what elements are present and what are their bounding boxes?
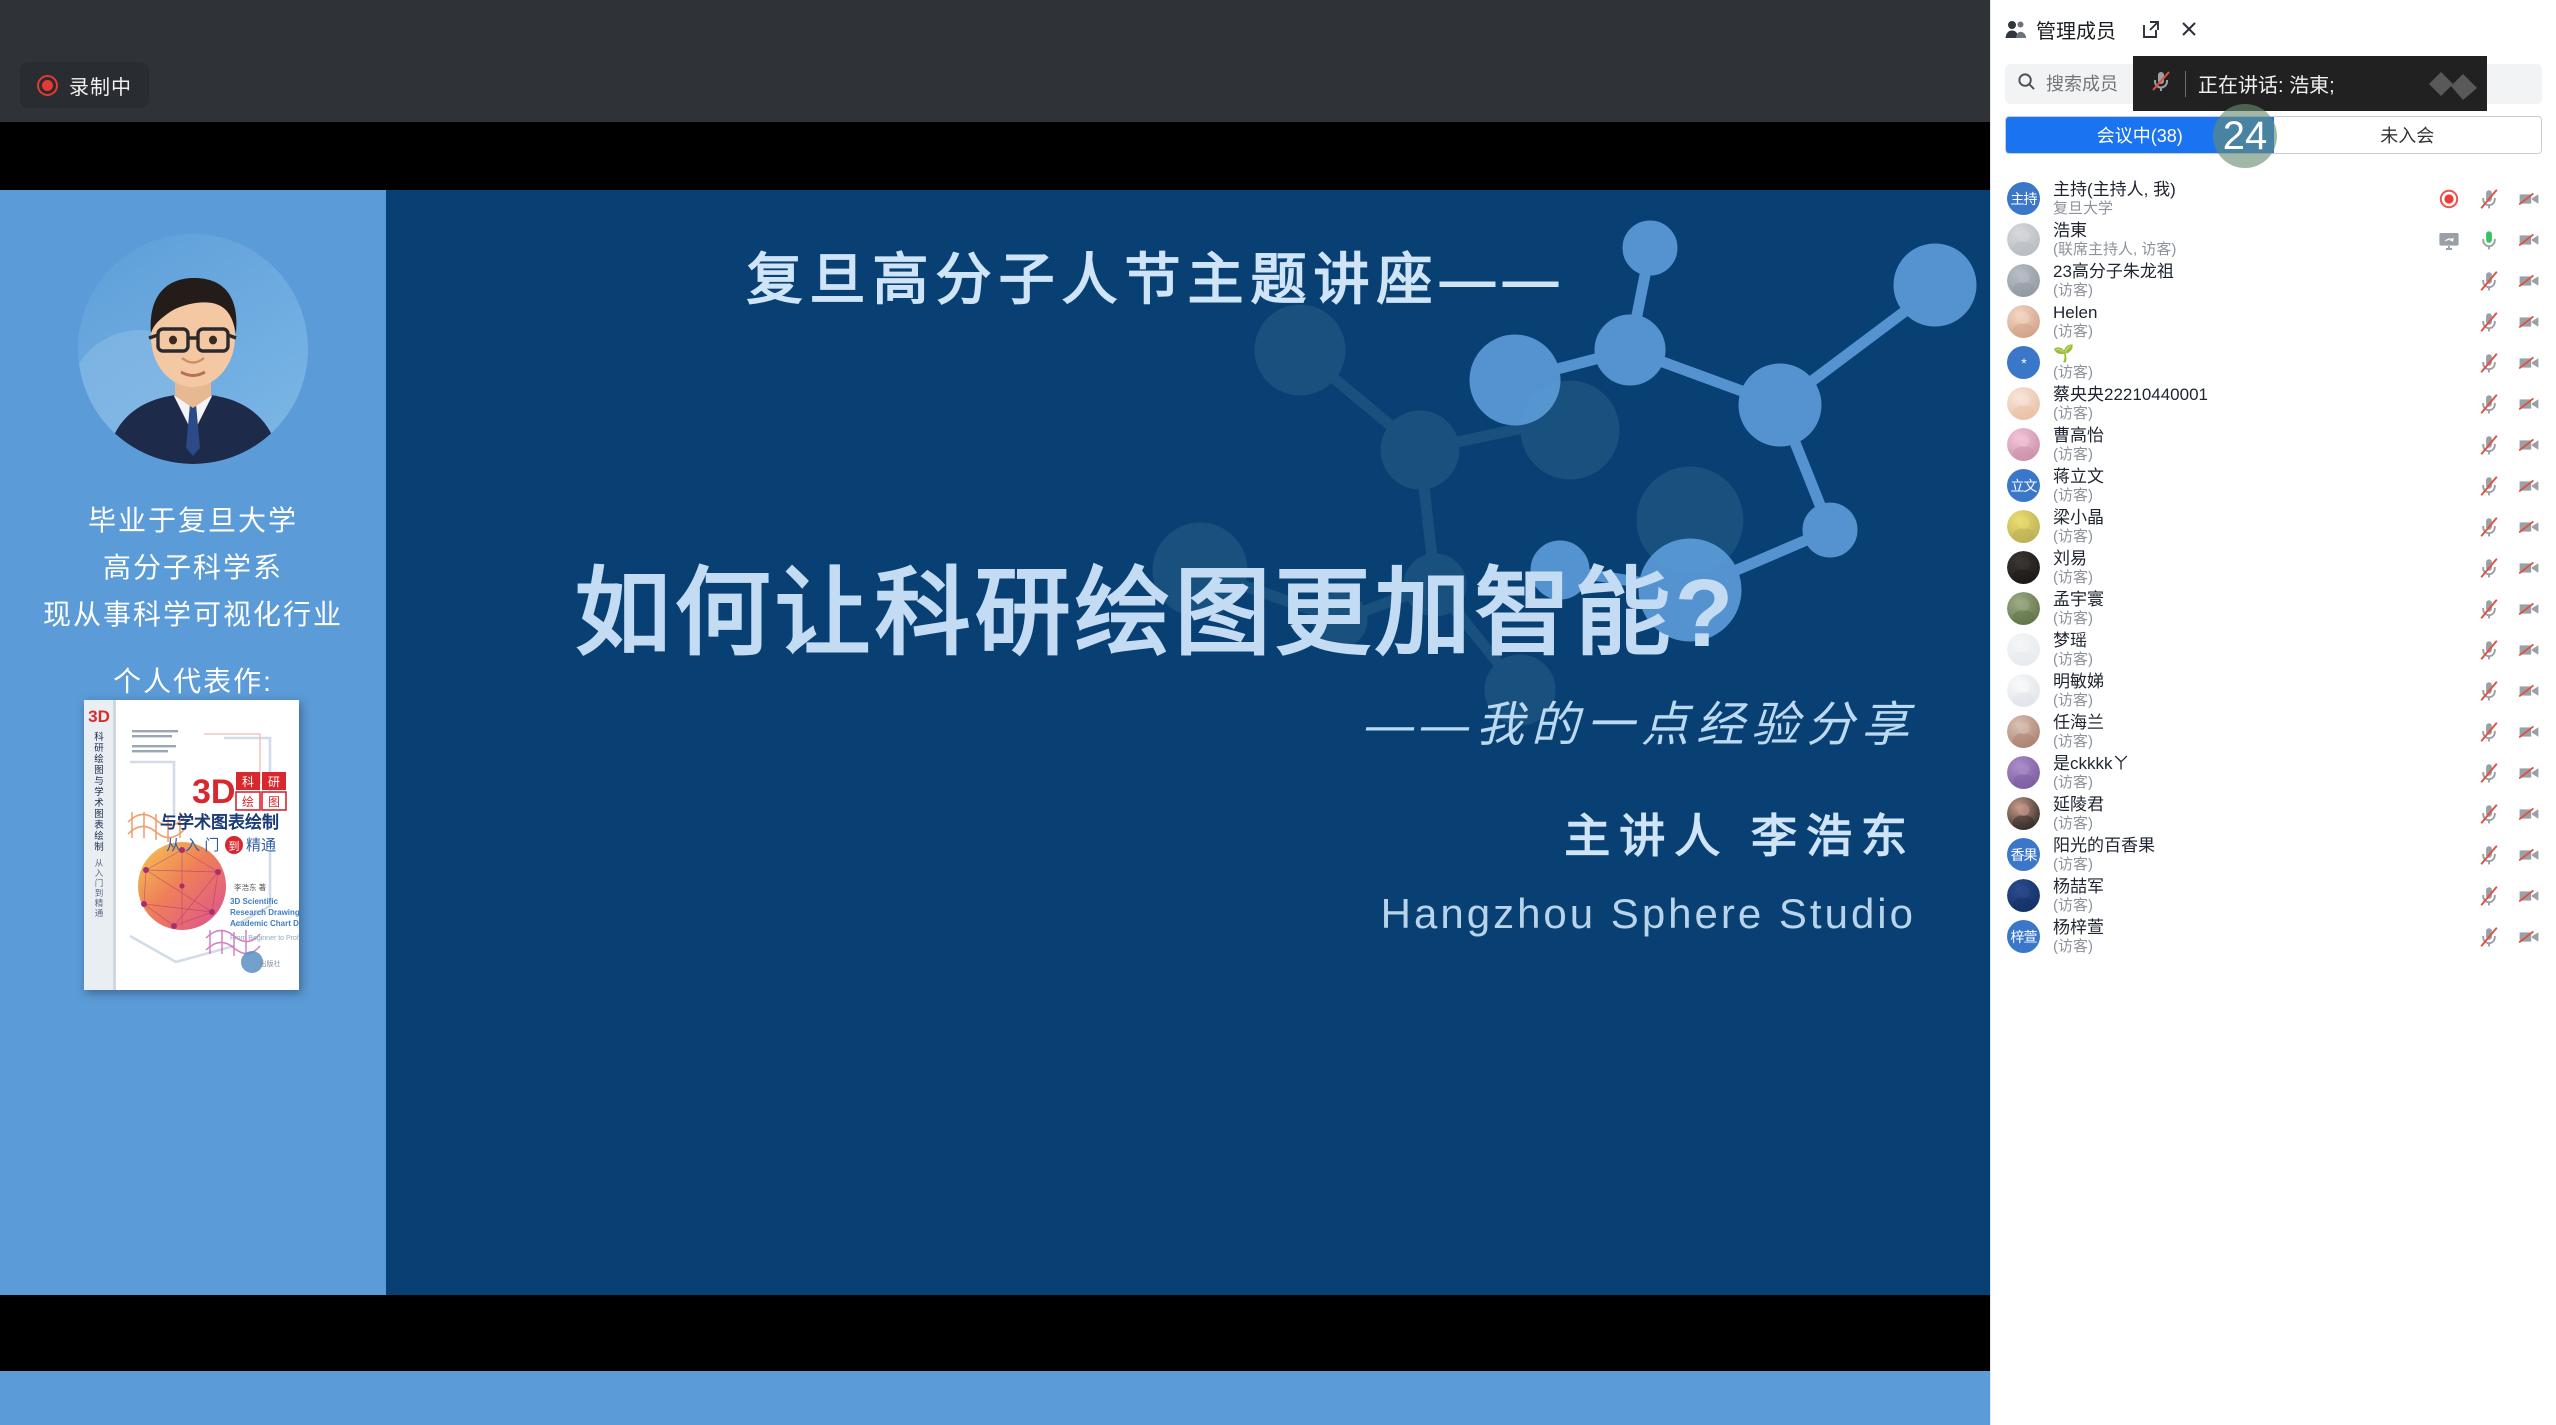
svg-text:Research Drawing and: Research Drawing and — [230, 908, 299, 917]
participant-row[interactable]: 香果阳光的百香果(访客) — [1991, 834, 2556, 875]
participant-status-icons — [2469, 557, 2541, 579]
participant-status-icons — [2469, 311, 2541, 333]
mic-muted-icon[interactable] — [2477, 598, 2501, 620]
svg-text:图: 图 — [268, 795, 280, 809]
participant-name: 延陵君 — [2053, 795, 2469, 815]
participant-meta: 🌱(访客) — [2053, 344, 2469, 381]
svg-text:研: 研 — [94, 743, 104, 754]
participant-row[interactable]: 明敏娣(访客) — [1991, 670, 2556, 711]
participant-status-icons — [2469, 721, 2541, 743]
participant-row[interactable]: 主持主持(主持人, 我)复旦大学 — [1991, 178, 2556, 219]
mic-muted-icon — [2149, 69, 2173, 98]
mic-muted-icon[interactable] — [2477, 680, 2501, 702]
svg-text:与学术图表绘制: 与学术图表绘制 — [160, 812, 279, 832]
mic-muted-icon[interactable] — [2477, 393, 2501, 415]
participant-role: (访客) — [2053, 733, 2469, 750]
bio-line-3: 现从事科学可视化行业 — [0, 594, 386, 635]
avatar: 立文 — [2007, 469, 2040, 502]
avatar — [2007, 305, 2040, 338]
camera-muted-icon[interactable] — [2517, 393, 2541, 415]
camera-muted-icon[interactable] — [2517, 270, 2541, 292]
participant-role: (访客) — [2053, 364, 2469, 381]
participant-status-icons — [2469, 926, 2541, 948]
letterbox-top — [0, 122, 1990, 190]
record-dot-icon — [2437, 188, 2461, 210]
participant-name: Helen — [2053, 303, 2469, 323]
participant-name: 梦瑶 — [2053, 631, 2469, 651]
panel-tab-manage-members[interactable]: 管理成员 — [2005, 0, 2126, 58]
svg-text:从 入 门: 从 入 门 — [166, 837, 219, 854]
participant-meta: 刘易(访客) — [2053, 549, 2469, 586]
recording-badge: 录制中 — [20, 62, 149, 108]
avatar: 香果 — [2007, 838, 2040, 871]
avatar — [2007, 223, 2040, 256]
avatar — [2007, 510, 2040, 543]
avatar — [2007, 756, 2040, 789]
avatar — [2007, 387, 2040, 420]
participant-meta: 曹高怡(访客) — [2053, 426, 2469, 463]
participant-role: (访客) — [2053, 323, 2469, 340]
camera-muted-icon[interactable] — [2517, 352, 2541, 374]
avatar — [2007, 797, 2040, 830]
slide-tagline: ——我的一点经验分享 — [1366, 685, 1916, 755]
slide-studio: Hangzhou Sphere Studio — [1381, 890, 1916, 938]
camera-muted-icon[interactable] — [2517, 188, 2541, 210]
camera-muted-icon[interactable] — [2517, 557, 2541, 579]
participant-role: (访客) — [2053, 856, 2469, 873]
camera-muted-icon[interactable] — [2517, 844, 2541, 866]
participant-meta: 23高分子朱龙祖(访客) — [2053, 262, 2469, 299]
participant-status-icons — [2469, 475, 2541, 497]
participant-status-icons — [2429, 229, 2541, 251]
participant-name: 杨梓萱 — [2053, 918, 2469, 938]
participant-name: 23高分子朱龙祖 — [2053, 262, 2469, 282]
participant-role: (联席主持人, 访客) — [2053, 241, 2429, 258]
avatar: * — [2007, 346, 2040, 379]
participant-role: (访客) — [2053, 610, 2469, 627]
svg-text:表: 表 — [94, 819, 104, 831]
top-toolbar-strip: 录制中 — [0, 0, 1990, 122]
count-badge: 24 — [2213, 104, 2277, 168]
participant-name: 任海兰 — [2053, 713, 2469, 733]
participants-panel: 管理成员 — [1990, 0, 2556, 1425]
participant-row[interactable]: 延陵君(访客) — [1991, 793, 2556, 834]
participant-meta: 阳光的百香果(访客) — [2053, 836, 2469, 873]
svg-text:3D Scientific: 3D Scientific — [230, 897, 279, 906]
svg-text:科: 科 — [94, 731, 104, 743]
camera-muted-icon[interactable] — [2517, 680, 2541, 702]
recording-label: 录制中 — [69, 71, 132, 100]
participant-role: (访客) — [2053, 651, 2469, 668]
svg-text:图: 图 — [94, 809, 104, 820]
participant-meta: 任海兰(访客) — [2053, 713, 2469, 750]
participant-status-icons — [2429, 188, 2541, 210]
participant-meta: 蒋立文(访客) — [2053, 467, 2469, 504]
svg-text:From Beginner to Proficient: From Beginner to Proficient — [230, 935, 299, 942]
participant-meta: 明敏娣(访客) — [2053, 672, 2469, 709]
mic-muted-icon[interactable] — [2477, 885, 2501, 907]
mic-muted-icon[interactable] — [2477, 762, 2501, 784]
speaker-bio: 毕业于复旦大学 高分子科学系 现从事科学可视化行业 个人代表作: — [0, 500, 386, 709]
mic-muted-icon[interactable] — [2477, 721, 2501, 743]
participant-name: 杨喆军 — [2053, 877, 2469, 897]
record-dot-icon — [37, 75, 58, 96]
bio-line-1: 毕业于复旦大学 — [0, 500, 386, 541]
participant-row[interactable]: 是ckkkkㄚ(访客) — [1991, 752, 2556, 793]
popout-icon[interactable] — [2140, 18, 2162, 40]
participant-meta: 浩東(联席主持人, 访客) — [2053, 221, 2429, 258]
svg-text:精通: 精通 — [246, 837, 276, 854]
participant-row[interactable]: 蔡央央22210440001(访客) — [1991, 383, 2556, 424]
avatar — [2007, 551, 2040, 584]
participant-meta: 是ckkkkㄚ(访客) — [2053, 754, 2469, 791]
participant-status-icons — [2469, 598, 2541, 620]
speaking-text: 正在讲话: 浩東; — [2198, 69, 2335, 98]
avatar — [2007, 428, 2040, 461]
camera-muted-icon[interactable] — [2517, 803, 2541, 825]
screen-share-icon[interactable] — [2437, 229, 2461, 251]
svg-text:术: 术 — [94, 797, 104, 809]
people-icon — [2005, 19, 2027, 39]
participant-row[interactable]: 梓萱杨梓萱(访客) — [1991, 916, 2556, 957]
mic-muted-icon[interactable] — [2477, 434, 2501, 456]
participant-status-icons — [2469, 393, 2541, 415]
participant-meta: 杨梓萱(访客) — [2053, 918, 2469, 955]
svg-text:通: 通 — [95, 908, 104, 918]
participant-row[interactable]: Helen(访客) — [1991, 301, 2556, 342]
participant-role: (访客) — [2053, 528, 2469, 545]
mic-muted-icon[interactable] — [2477, 475, 2501, 497]
camera-muted-icon[interactable] — [2517, 926, 2541, 948]
participant-meta: 延陵君(访客) — [2053, 795, 2469, 832]
mic-muted-icon[interactable] — [2477, 926, 2501, 948]
camera-muted-icon[interactable] — [2517, 598, 2541, 620]
bottom-blue-strip — [0, 1371, 1990, 1425]
svg-text:到: 到 — [229, 840, 240, 853]
participant-row[interactable]: 杨喆军(访客) — [1991, 875, 2556, 916]
avatar — [2007, 674, 2040, 707]
mic-muted-icon[interactable] — [2477, 352, 2501, 374]
svg-text:研: 研 — [268, 775, 280, 789]
close-icon[interactable] — [2178, 18, 2200, 40]
mic-muted-icon[interactable] — [2477, 557, 2501, 579]
avatar — [2007, 264, 2040, 297]
svg-text:门: 门 — [95, 878, 104, 888]
participant-role: (访客) — [2053, 405, 2469, 422]
participant-role: (访客) — [2053, 692, 2469, 709]
participant-row[interactable]: 梦瑶(访客) — [1991, 629, 2556, 670]
participant-role: (访客) — [2053, 487, 2469, 504]
slide-sidebar: 毕业于复旦大学 高分子科学系 现从事科学可视化行业 个人代表作: — [0, 190, 386, 1295]
svg-text:3D: 3D — [192, 773, 235, 811]
participant-name: 主持(主持人, 我) — [2053, 180, 2429, 200]
svg-text:李浩东 著: 李浩东 著 — [234, 882, 267, 892]
slide-subheading: 复旦高分子人节主题讲座—— — [386, 235, 1958, 316]
camera-muted-icon[interactable] — [2517, 434, 2541, 456]
participant-role: (访客) — [2053, 815, 2469, 832]
participant-status-icons — [2469, 270, 2541, 292]
avatar — [2007, 633, 2040, 666]
mic-muted-icon[interactable] — [2477, 270, 2501, 292]
participant-status-icons — [2469, 680, 2541, 702]
presentation-slide: 毕业于复旦大学 高分子科学系 现从事科学可视化行业 个人代表作: — [0, 190, 1990, 1295]
participant-role: (访客) — [2053, 446, 2469, 463]
svg-text:科: 科 — [242, 775, 254, 789]
participant-meta: 杨喆军(访客) — [2053, 877, 2469, 914]
participant-status-icons — [2469, 516, 2541, 538]
participant-name: 明敏娣 — [2053, 672, 2469, 692]
svg-text:图: 图 — [94, 765, 104, 776]
works-label: 个人代表作: — [0, 661, 386, 702]
participant-name: 梁小晶 — [2053, 508, 2469, 528]
svg-text:与: 与 — [94, 776, 104, 787]
mic-muted-icon[interactable] — [2477, 803, 2501, 825]
participant-role: (访客) — [2053, 897, 2469, 914]
participant-meta: 孟宇寰(访客) — [2053, 590, 2469, 627]
participant-status-icons — [2469, 639, 2541, 661]
svg-text:制: 制 — [94, 841, 104, 853]
svg-text:到: 到 — [95, 888, 104, 898]
svg-text:绘: 绘 — [94, 830, 104, 842]
participant-row[interactable]: *🌱(访客) — [1991, 342, 2556, 383]
avatar — [2007, 879, 2040, 912]
participant-row[interactable]: 浩東(联席主持人, 访客) — [1991, 219, 2556, 260]
camera-muted-icon[interactable] — [2517, 229, 2541, 251]
participant-row[interactable]: 曹高怡(访客) — [1991, 424, 2556, 465]
speaking-toast: 正在讲话: 浩東; — [2133, 56, 2487, 111]
mic-muted-icon[interactable] — [2477, 639, 2501, 661]
participant-name: 阳光的百香果 — [2053, 836, 2469, 856]
participant-role: (访客) — [2053, 938, 2469, 955]
participant-meta: 主持(主持人, 我)复旦大学 — [2053, 180, 2429, 217]
participant-row[interactable]: 立文蒋立文(访客) — [1991, 465, 2556, 506]
svg-text:绘: 绘 — [242, 794, 254, 809]
participant-name: 浩東 — [2053, 221, 2429, 241]
participant-row[interactable]: 任海兰(访客) — [1991, 711, 2556, 752]
participant-row[interactable]: 刘易(访客) — [1991, 547, 2556, 588]
search-icon — [2017, 72, 2036, 96]
book-cover: 3D 科研绘 图与学 术图表 绘制 从入门 到精通 — [84, 700, 299, 990]
participant-meta: 梁小晶(访客) — [2053, 508, 2469, 545]
participant-role: (访客) — [2053, 569, 2469, 586]
participant-name: 🌱 — [2053, 344, 2469, 364]
letterbox-bottom — [0, 1295, 1990, 1371]
participant-meta: Helen(访客) — [2053, 303, 2469, 340]
participants-list[interactable]: 主持主持(主持人, 我)复旦大学浩東(联席主持人, 访客)23高分子朱龙祖(访客… — [1991, 178, 2556, 1425]
svg-text:精: 精 — [95, 898, 104, 908]
participant-row[interactable]: 梁小晶(访客) — [1991, 506, 2556, 547]
svg-text:学: 学 — [94, 786, 104, 798]
participant-name: 蒋立文 — [2053, 467, 2469, 487]
slide-speaker: 主讲人 李浩东 — [1564, 800, 1916, 866]
camera-muted-icon[interactable] — [2517, 885, 2541, 907]
svg-text:绘: 绘 — [94, 753, 104, 765]
avatar: 梓萱 — [2007, 920, 2040, 953]
avatar — [2007, 715, 2040, 748]
svg-text:从: 从 — [95, 858, 104, 868]
participant-row[interactable]: 23高分子朱龙祖(访客) — [1991, 260, 2556, 301]
camera-muted-icon[interactable] — [2517, 516, 2541, 538]
participant-role: 复旦大学 — [2053, 200, 2429, 217]
camera-muted-icon[interactable] — [2517, 311, 2541, 333]
tab-not-joined[interactable]: 未入会 — [2274, 117, 2542, 153]
camera-muted-icon[interactable] — [2517, 762, 2541, 784]
avatar — [2007, 592, 2040, 625]
camera-muted-icon[interactable] — [2517, 639, 2541, 661]
participant-name: 蔡央央22210440001 — [2053, 385, 2469, 405]
svg-text:出版社: 出版社 — [260, 959, 281, 968]
mic-active-icon[interactable] — [2477, 229, 2501, 251]
camera-muted-icon[interactable] — [2517, 475, 2541, 497]
panel-header-icons — [2140, 18, 2200, 40]
participant-status-icons — [2469, 352, 2541, 374]
mic-muted-icon[interactable] — [2477, 516, 2501, 538]
participant-meta: 梦瑶(访客) — [2053, 631, 2469, 668]
participant-status-icons — [2469, 762, 2541, 784]
participant-name: 是ckkkkㄚ — [2053, 754, 2469, 774]
participant-role: (访客) — [2053, 282, 2469, 299]
participant-status-icons — [2469, 803, 2541, 825]
participant-meta: 蔡央央22210440001(访客) — [2053, 385, 2469, 422]
camera-muted-icon[interactable] — [2517, 721, 2541, 743]
participant-name: 孟宇寰 — [2053, 590, 2469, 610]
participant-row[interactable]: 孟宇寰(访客) — [1991, 588, 2556, 629]
svg-text:入: 入 — [95, 868, 104, 878]
speaker-portrait — [78, 234, 308, 464]
mic-muted-icon[interactable] — [2477, 188, 2501, 210]
shared-screen-stage: 录制中 — [0, 0, 1990, 1425]
mic-muted-icon[interactable] — [2477, 311, 2501, 333]
toast-decoration-icon — [2421, 64, 2481, 104]
bio-line-2: 高分子科学系 — [0, 547, 386, 588]
slide-main-area: 复旦高分子人节主题讲座—— 如何让科研绘图更加智能? ——我的一点经验分享 主讲… — [386, 190, 1990, 1295]
panel-title: 管理成员 — [2036, 15, 2116, 44]
slide-title: 如何让科研绘图更加智能? — [386, 535, 1958, 674]
avatar: 主持 — [2007, 182, 2040, 215]
mic-muted-icon[interactable] — [2477, 844, 2501, 866]
svg-text:3D: 3D — [88, 707, 110, 726]
app-root: 录制中 — [0, 0, 2556, 1425]
participant-name: 曹高怡 — [2053, 426, 2469, 446]
participant-status-icons — [2469, 434, 2541, 456]
participant-role: (访客) — [2053, 774, 2469, 791]
participant-status-icons — [2469, 885, 2541, 907]
participant-name: 刘易 — [2053, 549, 2469, 569]
panel-header: 管理成员 — [1991, 0, 2556, 58]
svg-text:Academic Chart Drawing: Academic Chart Drawing — [230, 919, 299, 928]
participant-status-icons — [2469, 844, 2541, 866]
